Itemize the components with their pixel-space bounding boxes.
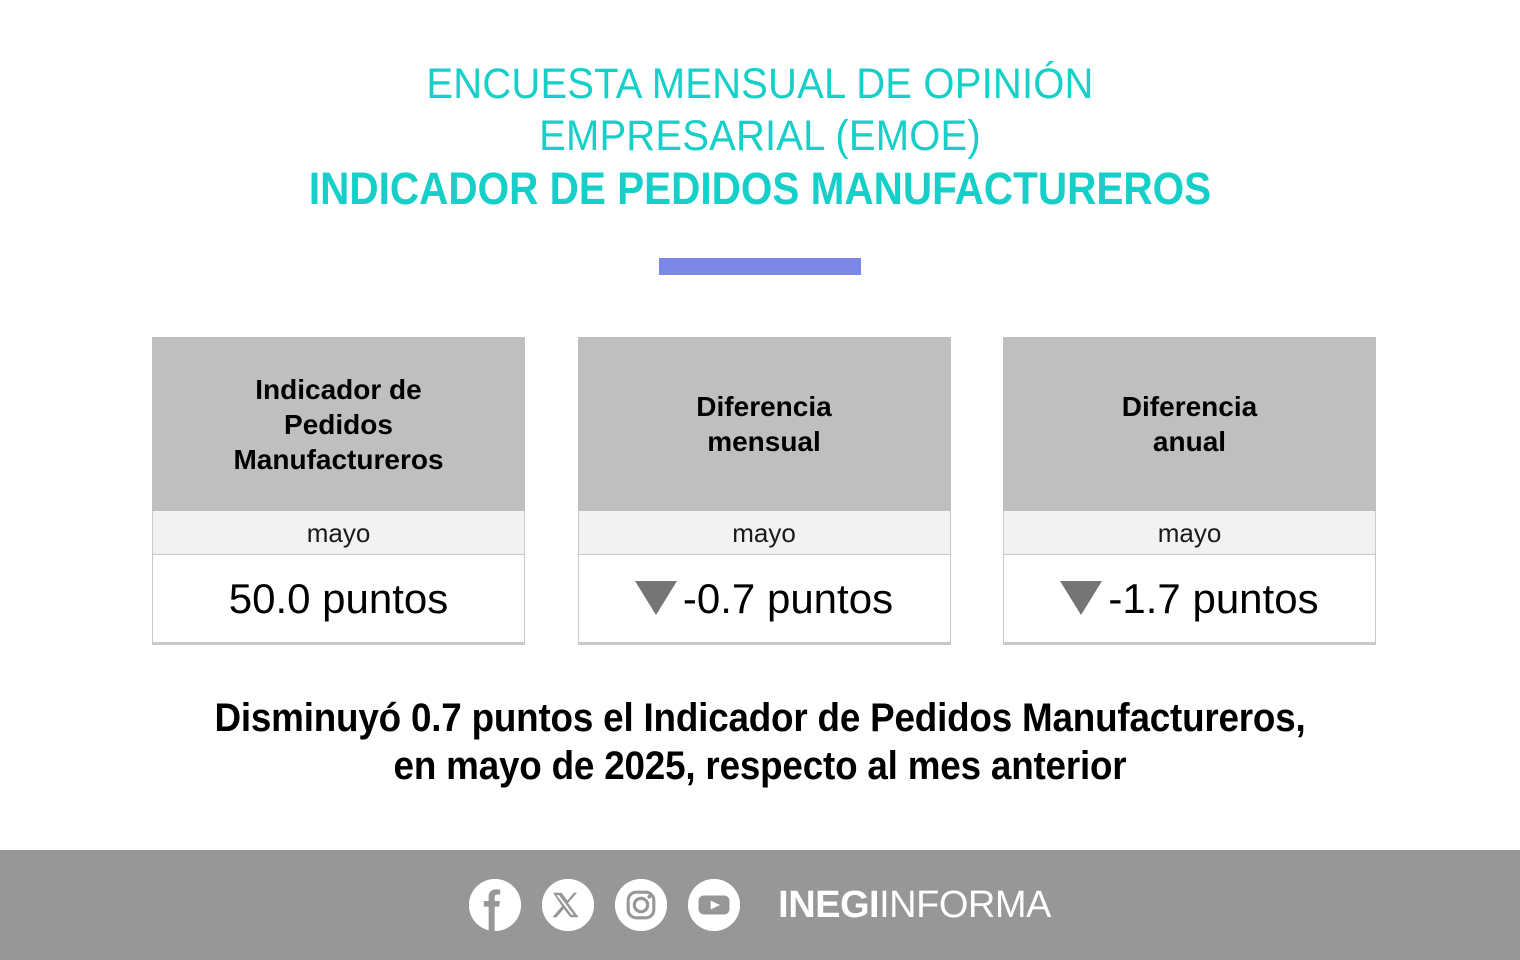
divider-bar	[659, 258, 861, 275]
card-header: Diferencia anual	[1003, 337, 1376, 511]
card-period-label: mayo	[307, 518, 371, 548]
card-header-line-2: anual	[1153, 426, 1226, 457]
footer-content: INEGIINFORMA	[469, 879, 1051, 931]
facebook-icon[interactable]	[469, 879, 521, 931]
card-value-group: -1.7 puntos	[1060, 575, 1318, 623]
card-header-line-1: Indicador de	[255, 374, 421, 405]
card-header: Indicador de Pedidos Manufactureros	[152, 337, 525, 511]
statement-line-1: Disminuyó 0.7 puntos el Indicador de Ped…	[61, 694, 1459, 742]
divider	[0, 258, 1520, 280]
youtube-icon[interactable]	[688, 879, 740, 931]
indicator-cards: Indicador de Pedidos Manufactureros mayo…	[152, 337, 1376, 645]
card-value-row: -1.7 puntos	[1003, 555, 1376, 645]
card-indicador-pedidos-manufactureros: Indicador de Pedidos Manufactureros mayo…	[152, 337, 525, 645]
card-period-row: mayo	[1003, 511, 1376, 555]
summary-statement: Disminuyó 0.7 puntos el Indicador de Ped…	[0, 694, 1520, 790]
card-value-text: -0.7 puntos	[683, 575, 893, 623]
card-header-label: Diferencia anual	[1122, 389, 1257, 459]
card-value-row: -0.7 puntos	[578, 555, 951, 645]
title-line-2: EMPRESARIAL (EMOE)	[53, 110, 1467, 162]
instagram-icon[interactable]	[615, 879, 667, 931]
brand-logotype: INEGIINFORMA	[778, 885, 1051, 925]
card-value-group: 50.0 puntos	[229, 575, 449, 623]
card-period-row: mayo	[578, 511, 951, 555]
card-diferencia-anual: Diferencia anual mayo -1.7 puntos	[1003, 337, 1376, 645]
x-twitter-icon[interactable]	[542, 879, 594, 931]
card-header-line-3: Manufactureros	[233, 444, 443, 475]
card-period-row: mayo	[152, 511, 525, 555]
card-header-label: Diferencia mensual	[696, 389, 831, 459]
footer-bar: INEGIINFORMA	[0, 850, 1520, 960]
statement-line-2: en mayo de 2025, respecto al mes anterio…	[61, 742, 1459, 790]
card-header-line-2: Pedidos	[284, 409, 393, 440]
card-value-group: -0.7 puntos	[635, 575, 893, 623]
title-line-3: INDICADOR DE PEDIDOS MANUFACTUREROS	[76, 162, 1444, 216]
card-value-text: -1.7 puntos	[1108, 575, 1318, 623]
card-header: Diferencia mensual	[578, 337, 951, 511]
page-title: ENCUESTA MENSUAL DE OPINIÓN EMPRESARIAL …	[0, 58, 1520, 216]
card-header-label: Indicador de Pedidos Manufactureros	[233, 372, 443, 477]
brand-informa: INFORMA	[879, 884, 1051, 926]
card-header-line-1: Diferencia	[1122, 391, 1257, 422]
triangle-down-icon	[635, 581, 677, 615]
brand-inegi: INEGI	[778, 884, 879, 926]
card-header-line-1: Diferencia	[696, 391, 831, 422]
card-period-label: mayo	[1158, 518, 1222, 548]
card-diferencia-mensual: Diferencia mensual mayo -0.7 puntos	[578, 337, 951, 645]
triangle-down-icon	[1060, 581, 1102, 615]
card-header-line-2: mensual	[707, 426, 821, 457]
title-line-1: ENCUESTA MENSUAL DE OPINIÓN	[53, 58, 1467, 110]
card-value-row: 50.0 puntos	[152, 555, 525, 645]
card-value-text: 50.0 puntos	[229, 575, 449, 623]
card-period-label: mayo	[732, 518, 796, 548]
